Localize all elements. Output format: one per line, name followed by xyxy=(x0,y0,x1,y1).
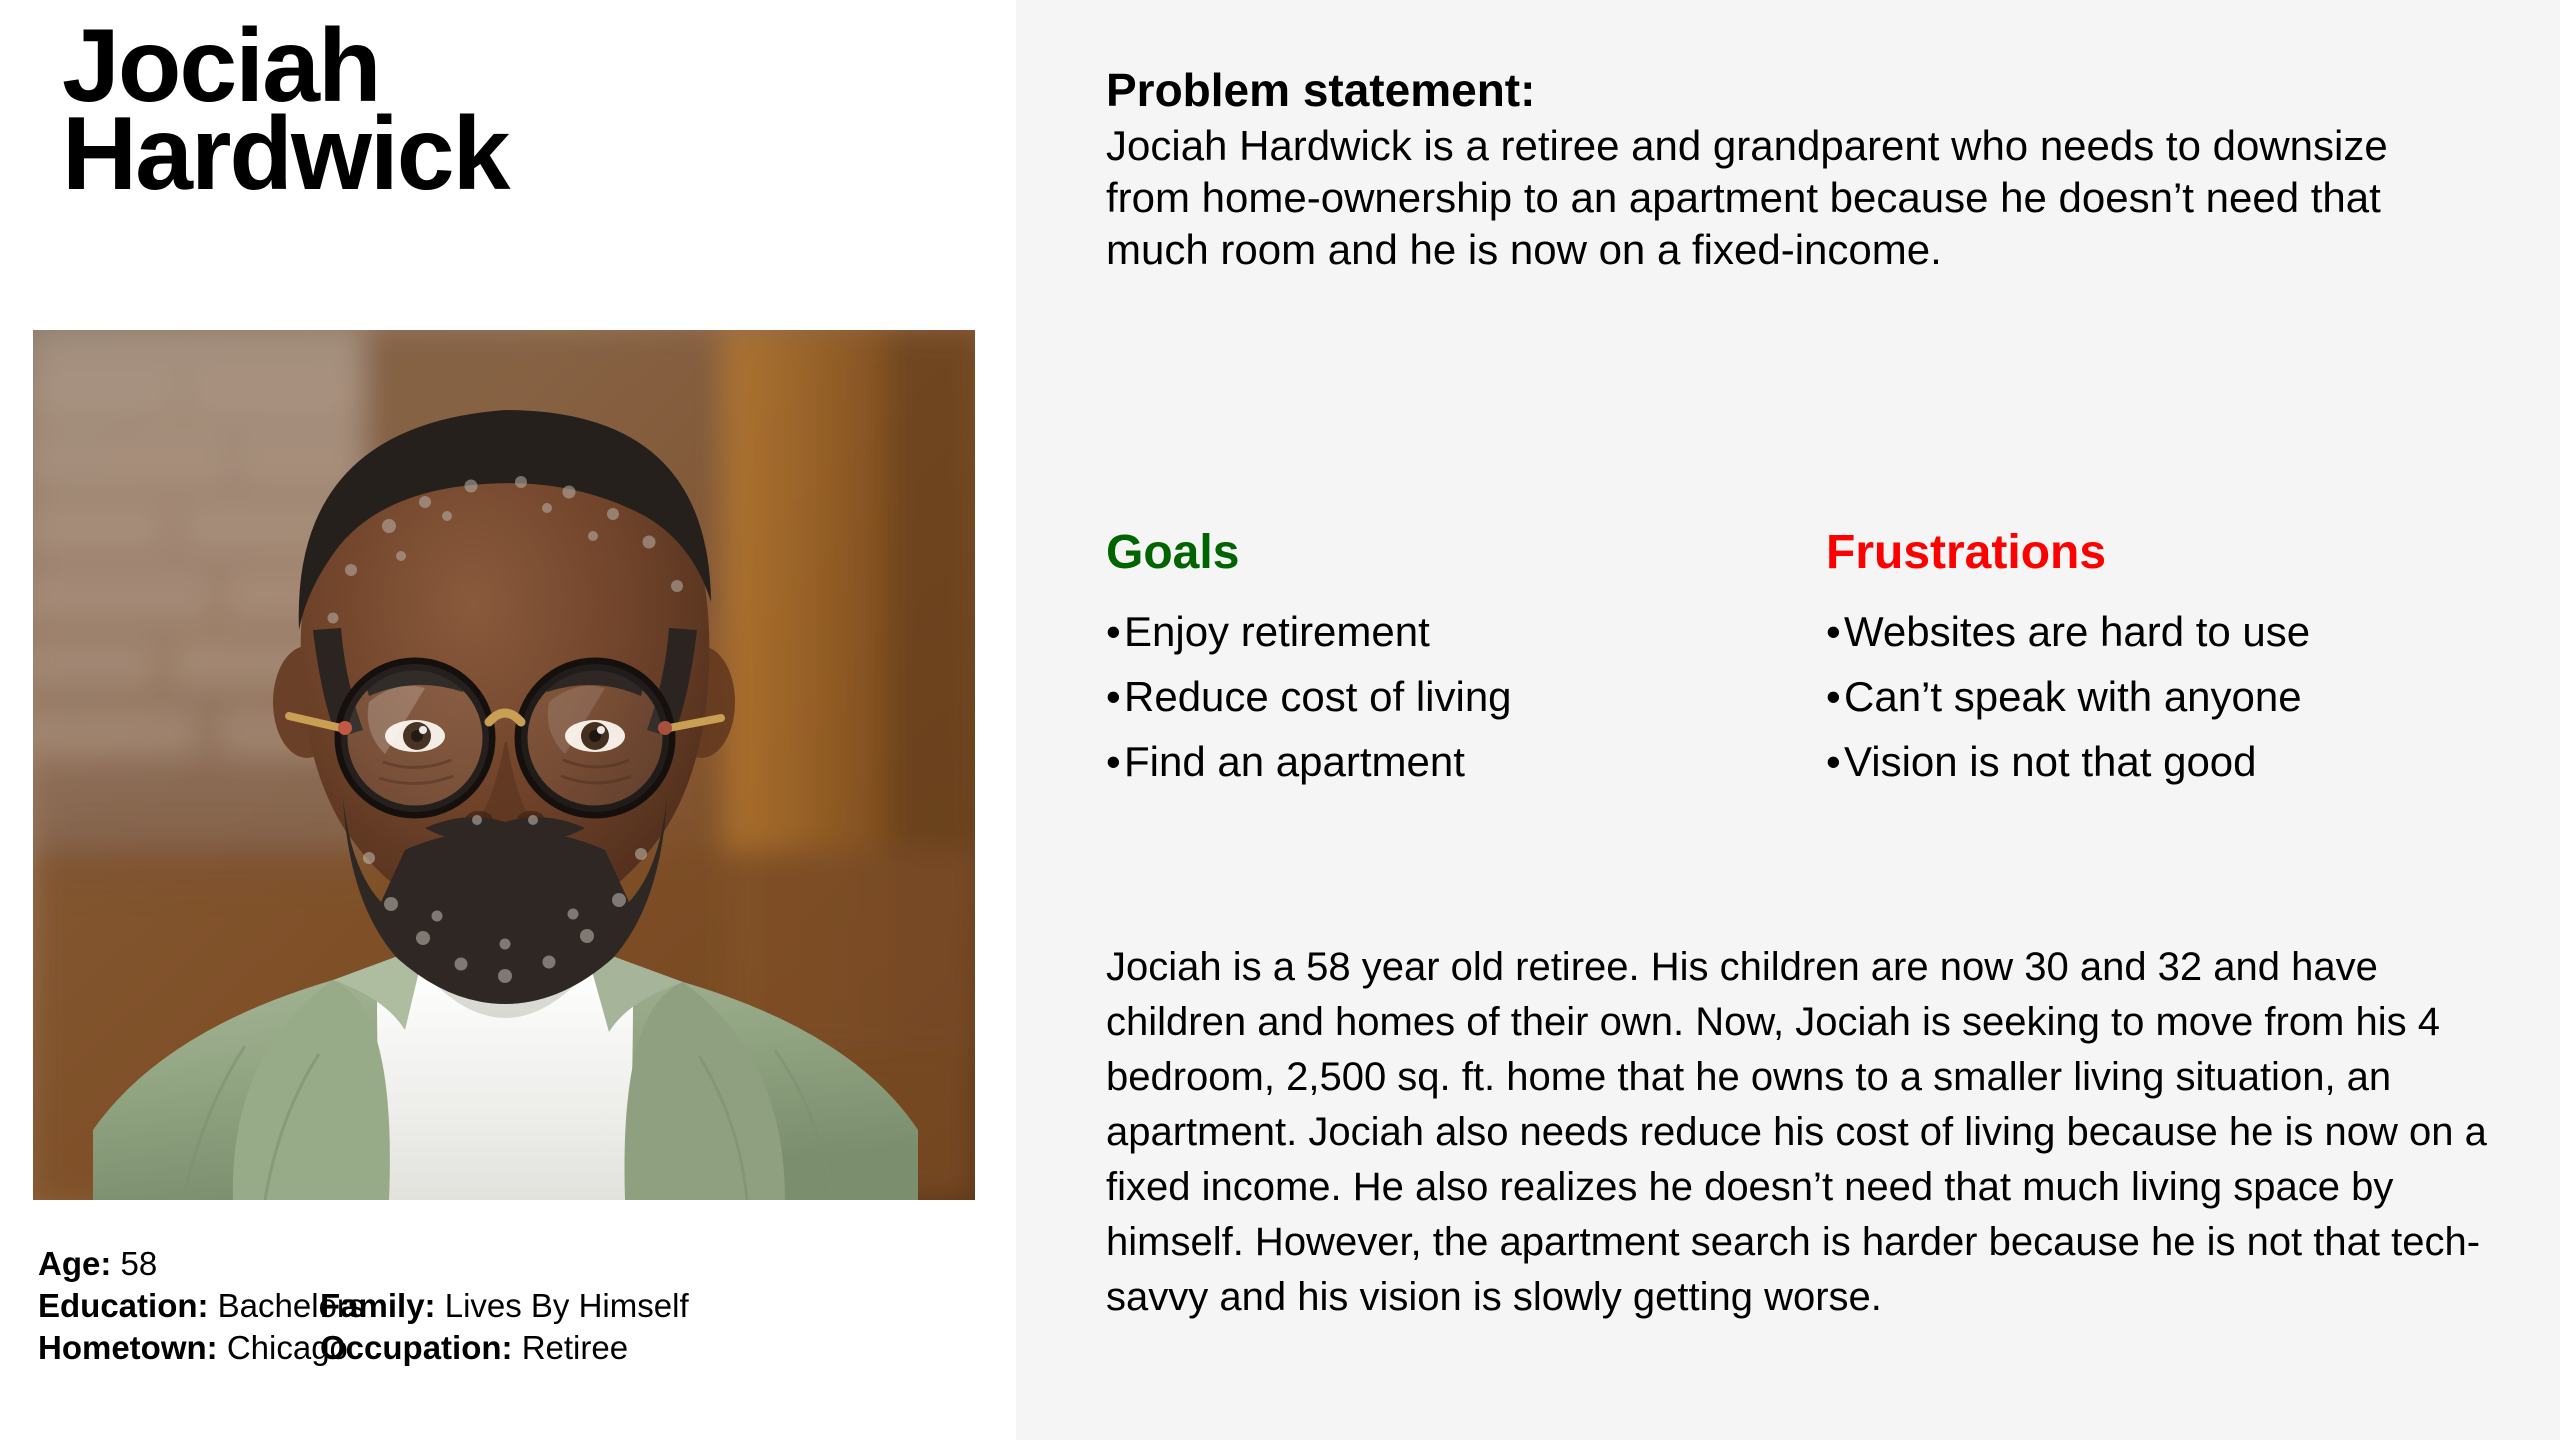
frustration-label: Websites are hard to use xyxy=(1844,608,2310,655)
fact-row-hometown: Hometown: Chicago xyxy=(38,1327,364,1369)
list-item: •Can’t speak with anyone xyxy=(1826,664,2526,729)
page-title: JociahHardwick xyxy=(62,22,942,198)
fact-row-education: Education: Bachelors xyxy=(38,1285,364,1327)
fact-row-age: Age: 58 xyxy=(38,1243,364,1285)
problem-statement-section: Problem statement: Jociah Hardwick is a … xyxy=(1106,62,2506,276)
fact-label-family: Family: xyxy=(320,1287,436,1324)
fact-label-age: Age: xyxy=(38,1245,111,1282)
fact-label-hometown: Hometown: xyxy=(38,1329,218,1366)
narrative-section: Jociah is a 58 year old retiree. His chi… xyxy=(1106,940,2506,1325)
bullet-icon: • xyxy=(1826,729,1844,794)
problem-statement-heading: Problem statement: xyxy=(1106,62,2506,118)
frustrations-column: Frustrations •Websites are hard to use •… xyxy=(1826,525,2526,794)
persona-right-panel: Problem statement: Jociah Hardwick is a … xyxy=(1016,0,2560,1440)
list-item: •Find an apartment xyxy=(1106,729,1826,794)
goal-label: Find an apartment xyxy=(1124,738,1465,785)
narrative-body: Jociah is a 58 year old retiree. His chi… xyxy=(1106,940,2491,1325)
problem-statement-body: Jociah Hardwick is a retiree and grandpa… xyxy=(1106,120,2476,276)
frustration-label: Can’t speak with anyone xyxy=(1844,673,2302,720)
list-item: •Websites are hard to use xyxy=(1826,599,2526,664)
bullet-icon: • xyxy=(1106,729,1124,794)
frustrations-heading: Frustrations xyxy=(1826,525,2526,581)
list-item: •Vision is not that good xyxy=(1826,729,2526,794)
bio-facts-column-one: Age: 58 Education: Bachelors Hometown: C… xyxy=(38,1243,364,1369)
fact-row-occupation: Occupation: Retiree xyxy=(320,1327,689,1369)
persona-left-panel: JociahHardwick xyxy=(0,0,1016,1440)
goals-column: Goals •Enjoy retirement •Reduce cost of … xyxy=(1106,525,1826,794)
bullet-icon: • xyxy=(1826,599,1844,664)
portrait-illustration xyxy=(33,330,975,1200)
goal-label: Enjoy retirement xyxy=(1124,608,1430,655)
fact-value-occupation: Retiree xyxy=(522,1329,628,1366)
fact-value-age: 58 xyxy=(121,1245,158,1282)
persona-name-line-2: Hardwick xyxy=(62,96,508,212)
fact-label-education: Education: xyxy=(38,1287,209,1324)
persona-document: JociahHardwick xyxy=(0,0,2560,1440)
fact-value-family: Lives By Himself xyxy=(445,1287,689,1324)
list-item: •Reduce cost of living xyxy=(1106,664,1826,729)
frustration-label: Vision is not that good xyxy=(1844,738,2257,785)
avatar xyxy=(33,330,975,1200)
fact-row-family: Family: Lives By Himself xyxy=(320,1285,689,1327)
bullet-icon: • xyxy=(1106,599,1124,664)
list-item: •Enjoy retirement xyxy=(1106,599,1826,664)
goals-frustrations-section: Goals •Enjoy retirement •Reduce cost of … xyxy=(1106,525,2526,794)
frustrations-list: •Websites are hard to use •Can’t speak w… xyxy=(1826,599,2526,794)
bio-facts: Age: 58 Education: Bachelors Hometown: C… xyxy=(38,1243,998,1393)
bullet-icon: • xyxy=(1106,664,1124,729)
goal-label: Reduce cost of living xyxy=(1124,673,1512,720)
bio-facts-column-two: Family: Lives By Himself Occupation: Ret… xyxy=(320,1285,689,1369)
goals-list: •Enjoy retirement •Reduce cost of living… xyxy=(1106,599,1826,794)
goals-heading: Goals xyxy=(1106,525,1826,581)
bullet-icon: • xyxy=(1826,664,1844,729)
fact-label-occupation: Occupation: xyxy=(320,1329,513,1366)
